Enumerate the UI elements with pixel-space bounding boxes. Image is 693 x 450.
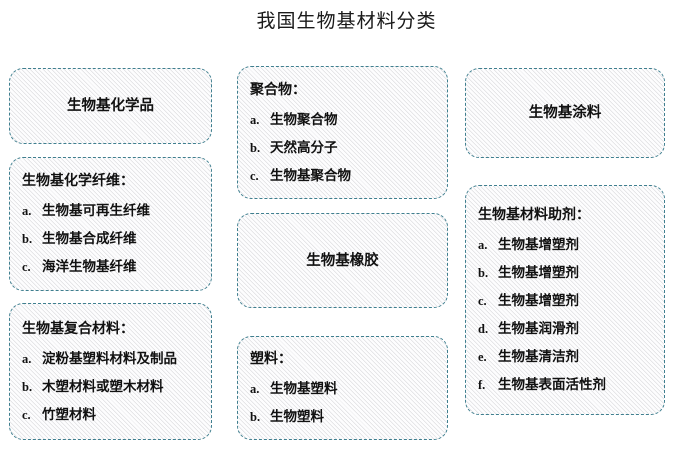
node-title-rubber: 生物基橡胶 (250, 251, 435, 271)
list-item: a. 生物基可再生纤维 (22, 202, 199, 220)
list-marker: e. (478, 349, 498, 366)
node-box-plastics[interactable]: 塑料： a. 生物基塑料 b. 生物塑料 (237, 336, 448, 440)
list-marker: a. (250, 381, 270, 398)
list-item-label: 生物聚合物 (270, 111, 338, 128)
list-item: f. 生物基表面活性剂 (478, 376, 652, 394)
node-box-additives[interactable]: 生物基材料助剂： a. 生物基增塑剂 b. 生物基增塑剂 c. 生物基增塑剂 d… (465, 185, 665, 415)
list-marker: b. (250, 140, 270, 157)
node-content: 生物基橡胶 (238, 251, 447, 271)
node-title-additives: 生物基材料助剂： (478, 206, 652, 226)
list-marker: a. (22, 203, 42, 220)
list-marker: c. (22, 407, 42, 424)
list-item: b. 生物塑料 (250, 408, 435, 426)
list-item-label: 木塑材料或塑木材料 (42, 378, 164, 395)
list-item: c. 生物基增塑剂 (478, 292, 652, 310)
list-item: b. 木塑材料或塑木材料 (22, 378, 199, 396)
node-box-polymers[interactable]: 聚合物： a. 生物聚合物 b. 天然高分子 c. 生物基聚合物 (237, 66, 448, 199)
list-item-label: 生物塑料 (270, 408, 324, 425)
list-item: a. 淀粉基塑料材料及制品 (22, 350, 199, 368)
list-item: b. 生物基增塑剂 (478, 264, 652, 282)
list-item: d. 生物基润滑剂 (478, 320, 652, 338)
list-item: c. 生物基聚合物 (250, 167, 435, 185)
list-item: c. 竹塑材料 (22, 406, 199, 424)
list-item: e. 生物基清洁剂 (478, 348, 652, 366)
item-list-plastics: a. 生物基塑料 b. 生物塑料 (250, 380, 435, 426)
node-box-coatings[interactable]: 生物基涂料 (465, 68, 665, 158)
list-item-label: 竹塑材料 (42, 406, 96, 423)
list-item-label: 生物基增塑剂 (498, 236, 579, 253)
list-item-label: 海洋生物基纤维 (42, 258, 137, 275)
node-box-rubber[interactable]: 生物基橡胶 (237, 213, 448, 308)
item-list-additives: a. 生物基增塑剂 b. 生物基增塑剂 c. 生物基增塑剂 d. 生物基润滑剂 … (478, 236, 652, 394)
node-content: 聚合物： a. 生物聚合物 b. 天然高分子 c. 生物基聚合物 (238, 81, 447, 185)
page-title: 我国生物基材料分类 (0, 10, 693, 34)
item-list-composites: a. 淀粉基塑料材料及制品 b. 木塑材料或塑木材料 c. 竹塑材料 (22, 350, 199, 424)
list-item: a. 生物基增塑剂 (478, 236, 652, 254)
list-item-label: 天然高分子 (270, 139, 338, 156)
list-item: a. 生物聚合物 (250, 111, 435, 129)
node-title-composites: 生物基复合材料： (22, 320, 199, 340)
list-marker: b. (250, 409, 270, 426)
list-item: b. 生物基合成纤维 (22, 230, 199, 248)
node-content: 生物基复合材料： a. 淀粉基塑料材料及制品 b. 木塑材料或塑木材料 c. 竹… (10, 320, 211, 424)
node-box-composites[interactable]: 生物基复合材料： a. 淀粉基塑料材料及制品 b. 木塑材料或塑木材料 c. 竹… (9, 303, 212, 440)
list-marker: b. (22, 231, 42, 248)
list-item: a. 生物基塑料 (250, 380, 435, 398)
node-content: 生物基化学品 (10, 96, 211, 116)
node-content: 塑料： a. 生物基塑料 b. 生物塑料 (238, 350, 447, 426)
item-list-polymers: a. 生物聚合物 b. 天然高分子 c. 生物基聚合物 (250, 111, 435, 185)
list-marker: b. (22, 379, 42, 396)
node-box-chemicals[interactable]: 生物基化学品 (9, 68, 212, 144)
list-marker: c. (478, 293, 498, 310)
list-marker: d. (478, 321, 498, 338)
list-marker: c. (250, 168, 270, 185)
node-title-plastics: 塑料： (250, 350, 435, 370)
list-item-label: 生物基增塑剂 (498, 264, 579, 281)
list-marker: a. (478, 237, 498, 254)
list-item-label: 生物基聚合物 (270, 167, 351, 184)
list-marker: a. (22, 351, 42, 368)
node-title-polymers: 聚合物： (250, 81, 435, 101)
list-item-label: 生物基清洁剂 (498, 348, 579, 365)
list-item-label: 淀粉基塑料材料及制品 (42, 350, 177, 367)
list-item: c. 海洋生物基纤维 (22, 258, 199, 276)
node-content: 生物基化学纤维： a. 生物基可再生纤维 b. 生物基合成纤维 c. 海洋生物基… (10, 172, 211, 276)
node-content: 生物基涂料 (466, 103, 664, 123)
node-box-fibers[interactable]: 生物基化学纤维： a. 生物基可再生纤维 b. 生物基合成纤维 c. 海洋生物基… (9, 157, 212, 291)
list-item-label: 生物基增塑剂 (498, 292, 579, 309)
node-title-coatings: 生物基涂料 (478, 103, 652, 123)
list-marker: b. (478, 265, 498, 282)
node-title-fibers: 生物基化学纤维： (22, 172, 199, 192)
list-item-label: 生物基塑料 (270, 380, 338, 397)
list-item: b. 天然高分子 (250, 139, 435, 157)
list-item-label: 生物基表面活性剂 (498, 376, 606, 393)
node-title-chemicals: 生物基化学品 (22, 96, 199, 116)
list-item-label: 生物基润滑剂 (498, 320, 579, 337)
list-marker: c. (22, 259, 42, 276)
list-marker: a. (250, 112, 270, 129)
list-item-label: 生物基合成纤维 (42, 230, 137, 247)
list-item-label: 生物基可再生纤维 (42, 202, 150, 219)
list-marker: f. (478, 377, 498, 394)
diagram-canvas: 我国生物基材料分类 生物基化学品 生物基化学纤维： a. 生物基可再生纤维 b.… (0, 0, 693, 450)
item-list-fibers: a. 生物基可再生纤维 b. 生物基合成纤维 c. 海洋生物基纤维 (22, 202, 199, 276)
node-content: 生物基材料助剂： a. 生物基增塑剂 b. 生物基增塑剂 c. 生物基增塑剂 d… (466, 206, 664, 394)
